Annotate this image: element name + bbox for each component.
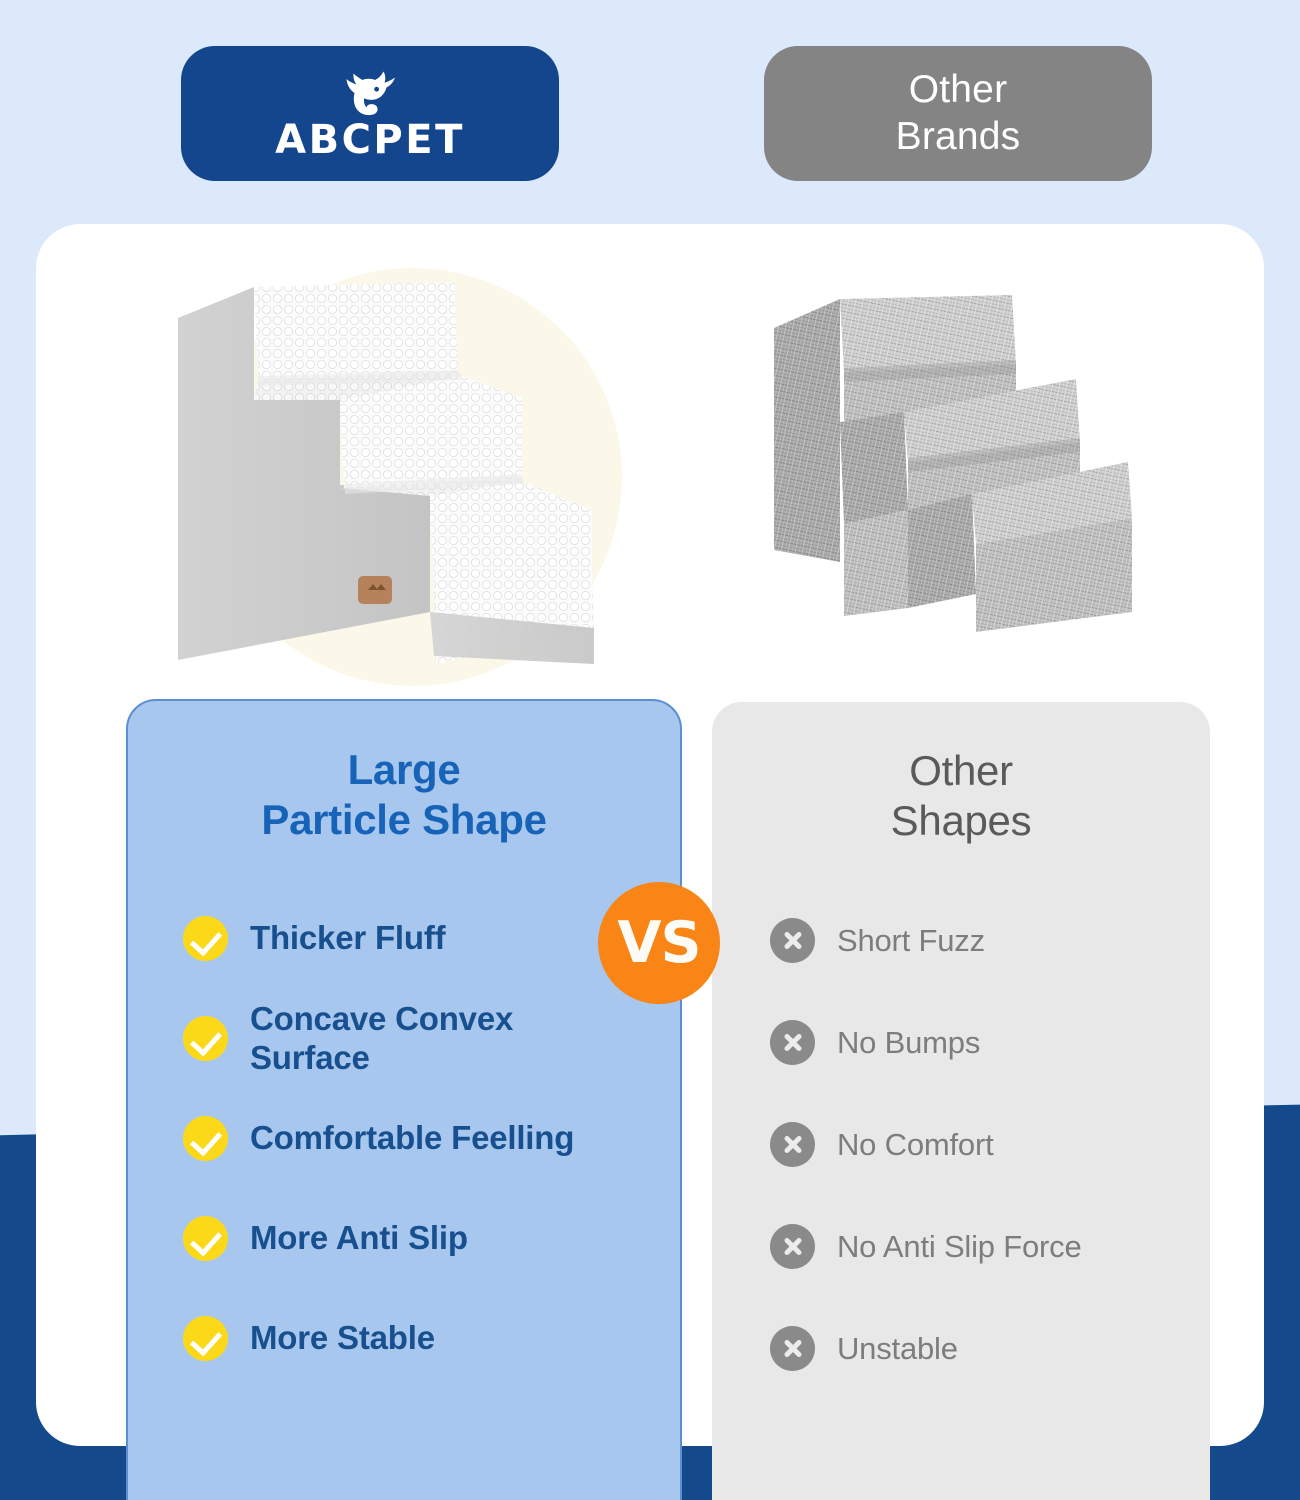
comparison-card: Large Particle Shape Thicker Fluff Conca… [36,224,1264,1446]
feature-label: Thicker Fluff [250,918,445,958]
list-item: More Anti Slip [128,1188,680,1288]
dog-head-icon [337,70,403,116]
x-circle-icon [770,1326,815,1371]
abcpet-feature-list: Thicker Fluff Concave Convex Surface Com… [128,888,680,1388]
x-circle-icon [770,1020,815,1065]
vs-label: VS [617,915,700,972]
list-item: More Stable [128,1288,680,1388]
feature-label: More Stable [250,1318,435,1358]
list-item: Short Fuzz [712,889,1210,991]
check-circle-icon [183,1316,228,1361]
feature-label: No Bumps [837,1024,980,1061]
check-circle-icon [183,1116,228,1161]
list-item: Unstable [712,1297,1210,1399]
abcpet-panel-title: Large Particle Shape [128,745,680,844]
other-panel-title: Other Shapes [712,746,1210,845]
list-item: No Anti Slip Force [712,1195,1210,1297]
infographic-canvas: ABCPET Other Brands [0,0,1300,1500]
feature-label: Short Fuzz [837,922,985,959]
other-brands-line-2: Brands [896,114,1021,160]
check-circle-icon [183,1216,228,1261]
x-circle-icon [770,1122,815,1167]
list-item: No Bumps [712,991,1210,1093]
feature-label: No Comfort [837,1126,993,1163]
other-brands-badge: Other Brands [764,46,1152,181]
list-item: Comfortable Feelling [128,1088,680,1188]
feature-label: Unstable [837,1330,958,1367]
feature-label: Comfortable Feelling [250,1118,574,1158]
other-brands-line-1: Other [909,67,1008,113]
x-circle-icon [770,1224,815,1269]
feature-label: Concave Convex Surface [250,999,580,1078]
vs-badge: VS [598,882,720,1004]
check-circle-icon [183,1016,228,1061]
header-badges: ABCPET Other Brands [0,46,1300,181]
check-circle-icon [183,916,228,961]
x-circle-icon [770,918,815,963]
list-item: Concave Convex Surface [128,988,680,1088]
abcpet-stairs-image [162,260,632,690]
product-photo-row [36,224,1264,724]
feature-label: No Anti Slip Force [837,1228,1082,1265]
other-brand-stairs-image [756,282,1156,672]
brand-wordmark: ABCPET [275,120,465,160]
abcpet-title-line-2: Particle Shape [128,795,680,845]
list-item: No Comfort [712,1093,1210,1195]
feature-label: More Anti Slip [250,1218,468,1258]
abcpet-title-line-1: Large [128,745,680,795]
other-title-line-1: Other [712,746,1210,796]
other-feature-list: Short Fuzz No Bumps No Comfort No Anti S… [712,889,1210,1399]
abcpet-feature-panel: Large Particle Shape Thicker Fluff Conca… [126,699,682,1500]
brand-badge: ABCPET [181,46,559,181]
other-feature-panel: Other Shapes Short Fuzz No Bumps No Comf… [712,702,1210,1500]
other-title-line-2: Shapes [712,796,1210,846]
